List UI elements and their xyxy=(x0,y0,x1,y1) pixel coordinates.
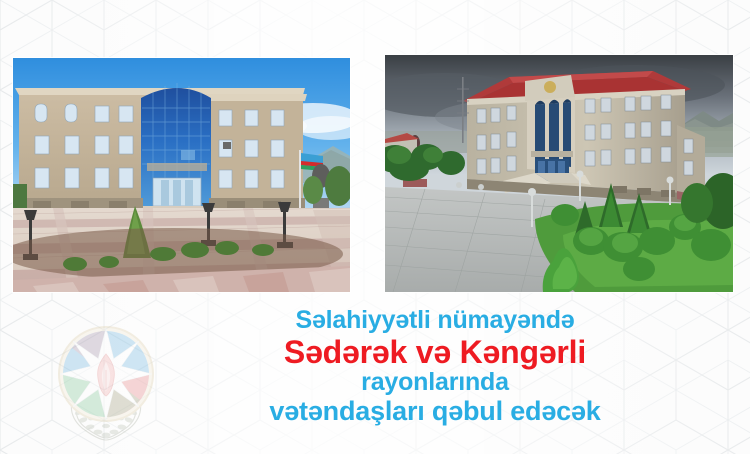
headline-line-3: rayonlarında xyxy=(225,370,645,396)
photo-sederek-building xyxy=(13,58,350,292)
headline-line-1: Səlahiyyətli nümayəndə xyxy=(225,308,645,334)
news-banner-poster: Səlahiyyətli nümayəndə Sədərək və Kəngər… xyxy=(0,0,750,454)
headline-block: Səlahiyyətli nümayəndə Sədərək və Kəngər… xyxy=(225,308,645,425)
azerbaijan-state-emblem-icon xyxy=(52,322,160,444)
photo-kengerli-building xyxy=(385,55,733,292)
headline-line-2-highlight: Sədərək və Kəngərli xyxy=(225,336,645,369)
headline-line-4: vətəndaşları qəbul edəcək xyxy=(225,398,645,426)
